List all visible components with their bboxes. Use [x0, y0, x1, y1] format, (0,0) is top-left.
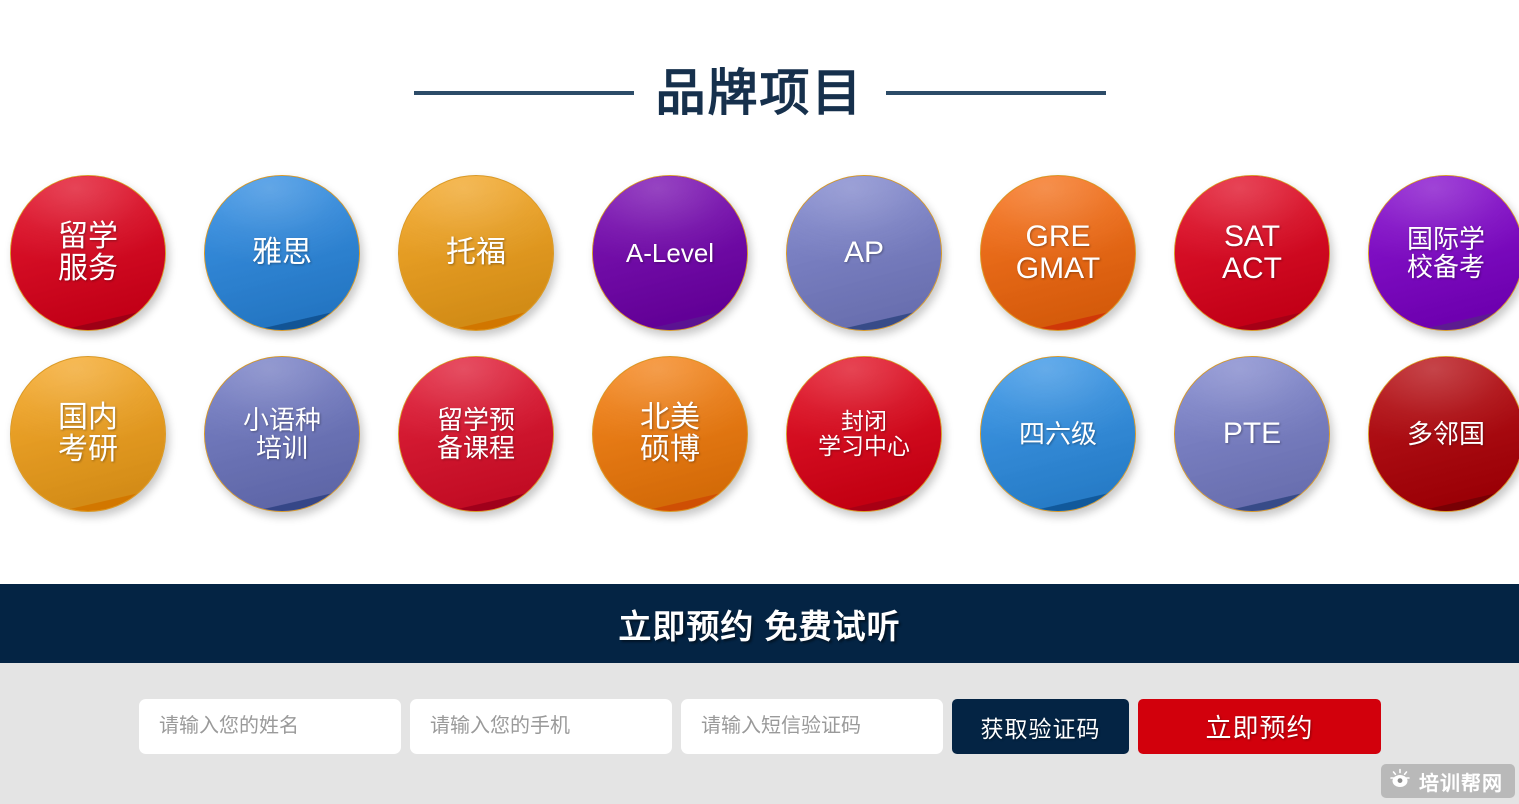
cta-bar: 立即预约 免费试听 — [0, 584, 1519, 663]
booking-form: 获取验证码 立即预约 — [139, 699, 1381, 754]
program-label: 国际学 校备考 — [1401, 225, 1491, 281]
program-label: 国内 考研 — [52, 402, 124, 467]
section-header: 品牌项目 — [0, 0, 1519, 175]
phone-input[interactable] — [410, 699, 672, 754]
program-label: AP — [838, 237, 890, 269]
watermark-text: 培训帮网 — [1419, 767, 1503, 796]
rule-left — [414, 91, 634, 95]
program-label: 留学预 备课程 — [431, 406, 521, 462]
program-bubble-tuofu[interactable]: 托福 — [398, 175, 554, 331]
program-label: 留学 服务 — [52, 221, 124, 286]
sms-code-input[interactable] — [681, 699, 943, 754]
program-label: 多邻国 — [1401, 420, 1491, 448]
program-label: 雅思 — [246, 237, 318, 269]
program-bubble-guoji-xuexiao-beikao[interactable]: 国际学 校备考 — [1368, 175, 1519, 331]
program-bubble-guonei-kaoyan[interactable]: 国内 考研 — [10, 356, 166, 512]
form-zone: 获取验证码 立即预约 — [0, 663, 1519, 804]
program-label: 封闭 学习中心 — [812, 409, 916, 459]
page-title: 品牌项目 — [656, 68, 864, 118]
program-bubble-xiaoyuzhong-peixun[interactable]: 小语种 培训 — [204, 356, 360, 512]
program-label: PTE — [1217, 418, 1287, 450]
program-grid: 留学 服务雅思托福A-LevelAPGRE GMATSAT ACT国际学 校备考… — [0, 175, 1519, 512]
program-bubble-pte[interactable]: PTE — [1174, 356, 1330, 512]
program-row-2: 国内 考研小语种 培训留学预 备课程北美 硕博封闭 学习中心四六级PTE多邻国 — [0, 356, 1519, 512]
program-bubble-ap[interactable]: AP — [786, 175, 942, 331]
program-bubble-liuxue-yubei-kecheng[interactable]: 留学预 备课程 — [398, 356, 554, 512]
name-input[interactable] — [139, 699, 401, 754]
program-bubble-beimei-shuobo[interactable]: 北美 硕博 — [592, 356, 748, 512]
program-row-1: 留学 服务雅思托福A-LevelAPGRE GMATSAT ACT国际学 校备考 — [0, 175, 1519, 331]
program-label: 小语种 培训 — [237, 406, 327, 462]
program-bubble-sat-act[interactable]: SAT ACT — [1174, 175, 1330, 331]
get-code-button[interactable]: 获取验证码 — [952, 699, 1129, 754]
watermark: 培训帮网 — [1381, 764, 1515, 798]
eye-sun-icon — [1389, 768, 1411, 795]
program-label: 四六级 — [1013, 420, 1103, 448]
submit-booking-button[interactable]: 立即预约 — [1138, 699, 1381, 754]
program-label: 托福 — [440, 237, 512, 269]
program-bubble-gre-gmat[interactable]: GRE GMAT — [980, 175, 1136, 331]
program-bubble-liuxue-fuwu[interactable]: 留学 服务 — [10, 175, 166, 331]
program-label: SAT ACT — [1216, 221, 1288, 286]
program-bubble-yasi[interactable]: 雅思 — [204, 175, 360, 331]
cta-title: 立即预约 免费试听 — [618, 600, 900, 648]
program-bubble-duolingguo[interactable]: 多邻国 — [1368, 356, 1519, 512]
program-bubble-a-level[interactable]: A-Level — [592, 175, 748, 331]
program-bubble-fengbi-xuexi-zhongxin[interactable]: 封闭 学习中心 — [786, 356, 942, 512]
rule-right — [886, 91, 1106, 95]
program-label: GRE GMAT — [1010, 221, 1106, 286]
program-label: A-Level — [620, 239, 720, 267]
program-label: 北美 硕博 — [634, 402, 706, 467]
program-bubble-si-liu-ji[interactable]: 四六级 — [980, 356, 1136, 512]
